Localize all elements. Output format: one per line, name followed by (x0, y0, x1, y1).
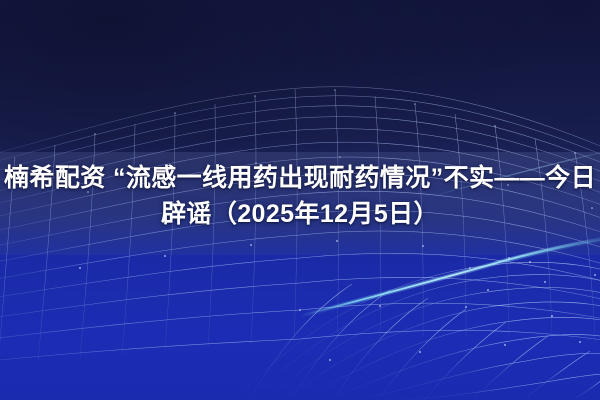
banner-image: 楠希配资 “流感一线用药出现耐药情况”不实——今日 辟谣（2025年12月5日） (0, 0, 600, 400)
headline-line-2: 辟谣（2025年12月5日） (0, 196, 600, 232)
headline-line-1: 楠希配资 “流感一线用药出现耐药情况”不实——今日 (4, 164, 596, 192)
banner-headline: 楠希配资 “流感一线用药出现耐药情况”不实——今日 辟谣（2025年12月5日） (0, 160, 600, 232)
